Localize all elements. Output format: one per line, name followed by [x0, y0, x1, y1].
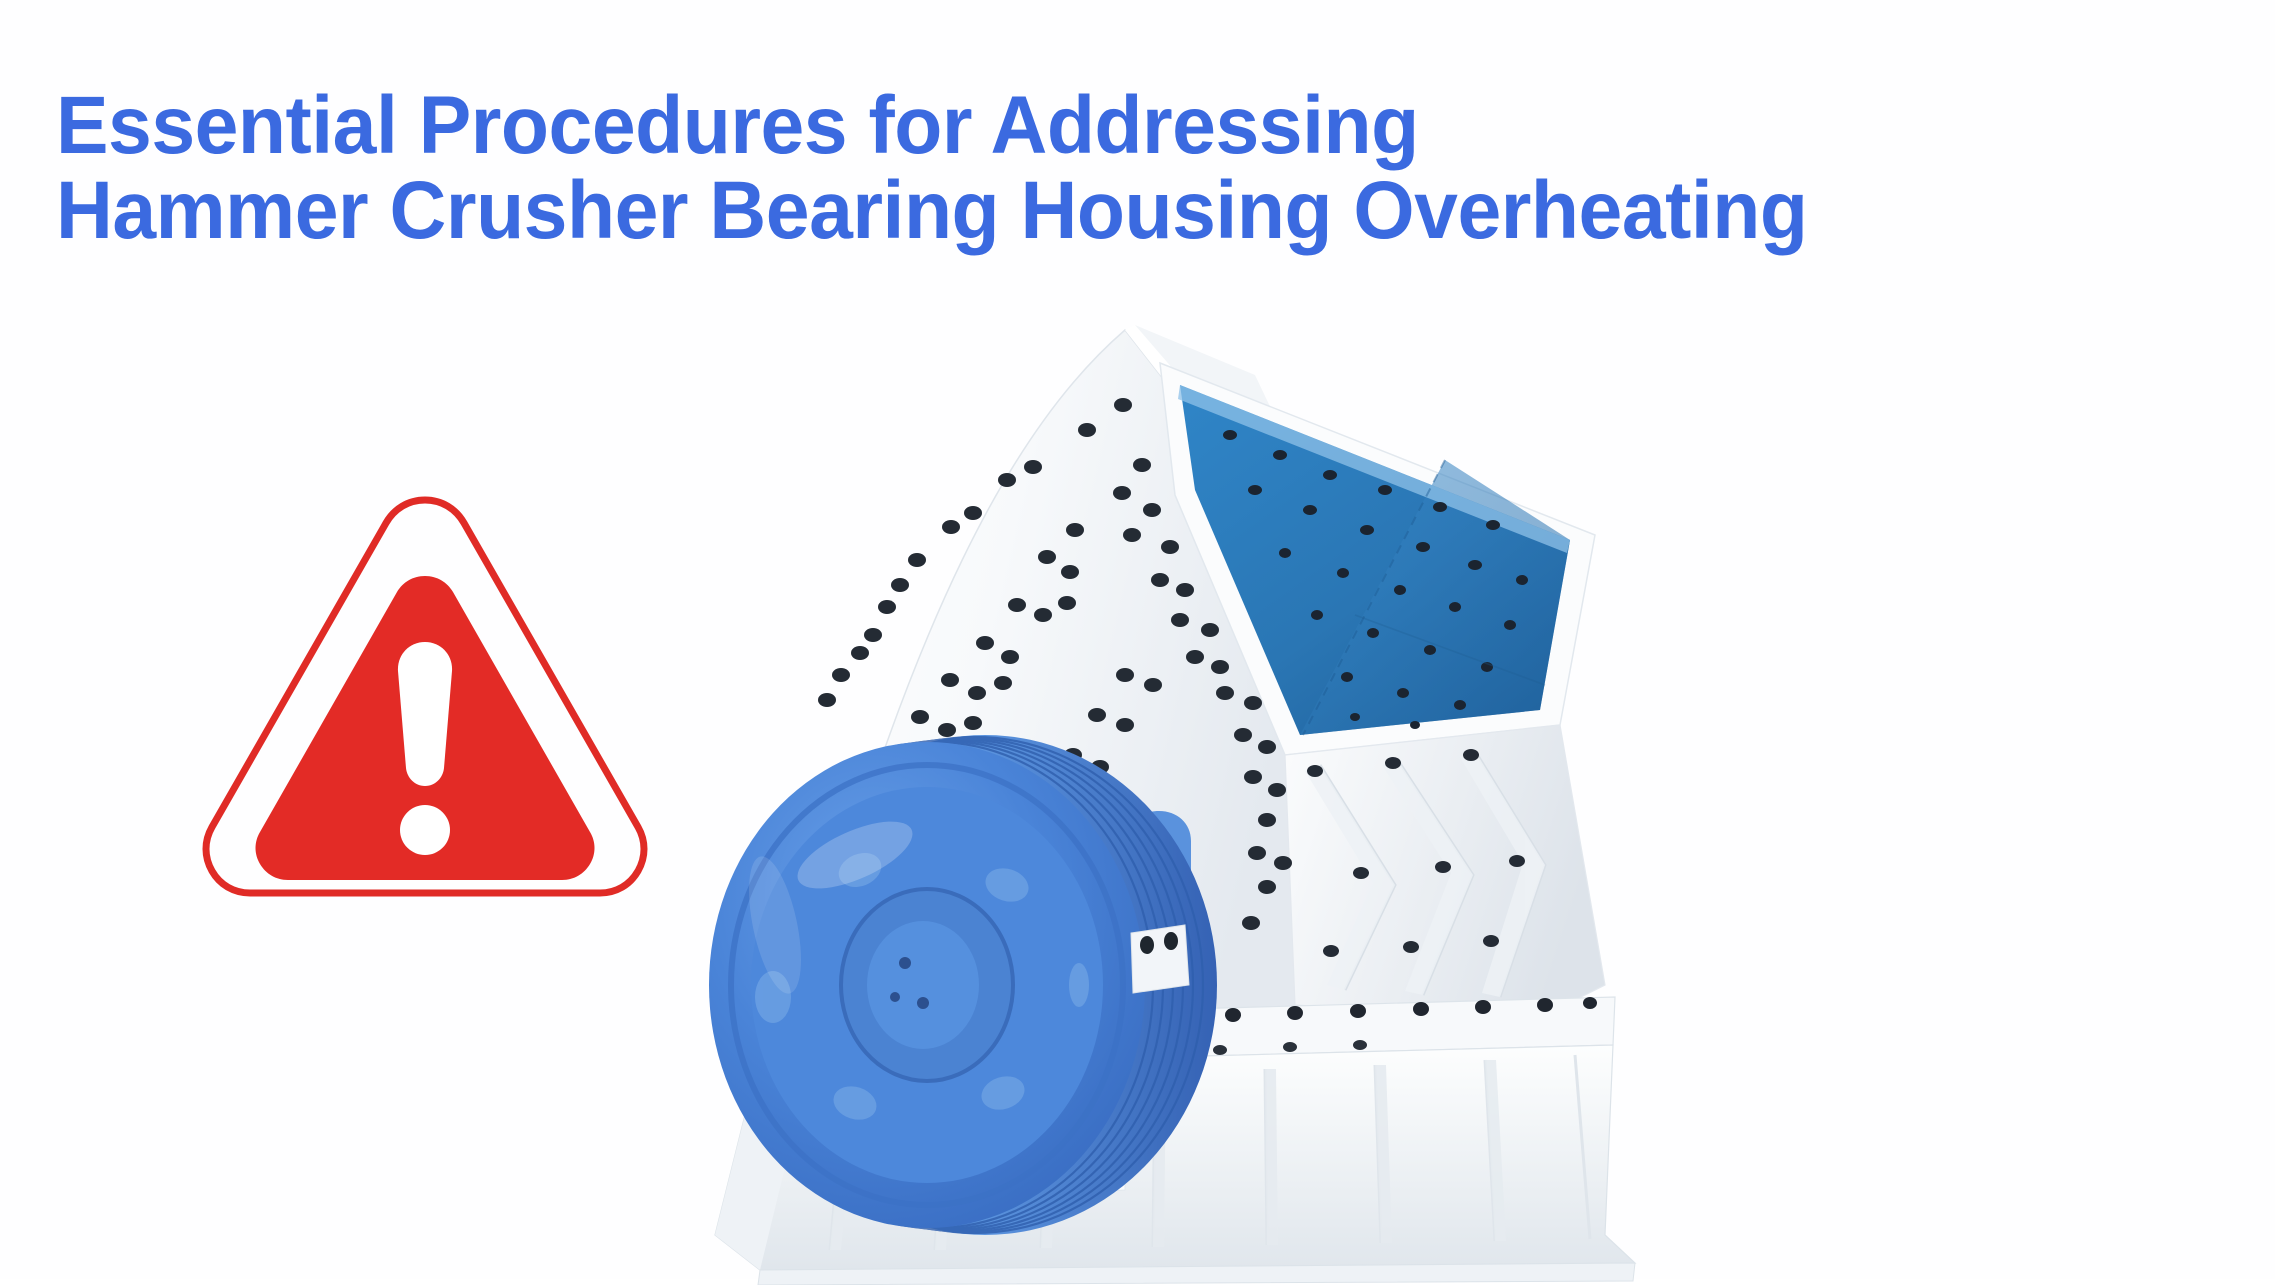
warning-triangle-icon: [190, 482, 660, 934]
hammer-crusher-illustration: [655, 285, 1700, 1285]
exclamation-dot: [400, 805, 450, 855]
flywheel-hub-inner: [867, 921, 979, 1049]
bearing-housing-block: [1131, 925, 1189, 993]
exclamation-stem: [398, 642, 452, 786]
bearing-housing-assembly: [1131, 925, 1189, 993]
page-title: Essential Procedures for Addressing Hamm…: [56, 83, 2091, 254]
discharge-rib-section: [1285, 725, 1605, 1020]
